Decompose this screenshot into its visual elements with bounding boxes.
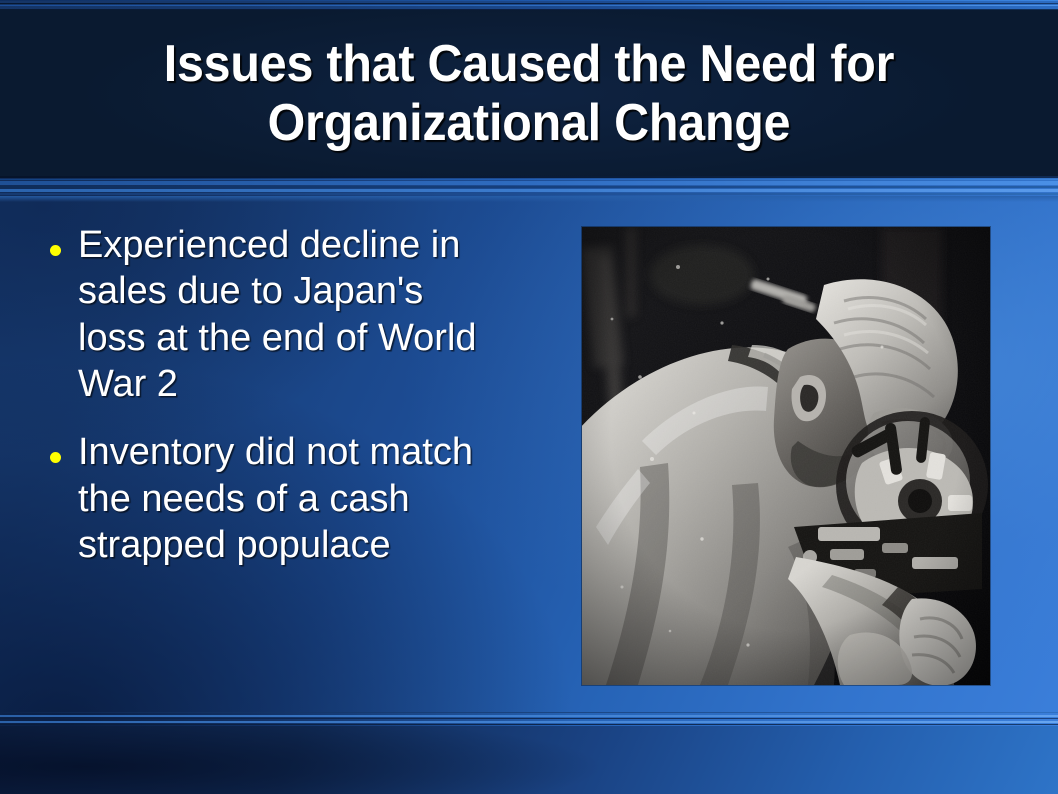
footer-rule-5 (0, 724, 1058, 725)
slide-content: Experienced decline in sales due to Japa… (0, 202, 1058, 712)
historical-worker-photo (582, 227, 990, 685)
footer-rule-group (0, 712, 1058, 730)
bottom-strip (0, 726, 1058, 794)
divider-rule-2 (0, 179, 1058, 180)
bullet-dot-icon (50, 452, 61, 463)
title-bar: Issues that Caused the Need for Organiza… (0, 10, 1058, 178)
divider-rule-3 (0, 181, 1058, 185)
top-rule-1 (0, 0, 1058, 1)
list-item: Inventory did not match the needs of a c… (50, 429, 550, 568)
footer-rule-3 (0, 718, 1058, 719)
divider-rule-4 (0, 186, 1058, 188)
footer-rule-1 (0, 712, 1058, 713)
page-title: Issues that Caused the Need for Organiza… (37, 35, 1021, 153)
footer-rule-2 (0, 715, 1058, 717)
divider-rule-6 (0, 193, 1058, 195)
title-divider-band (0, 176, 1058, 202)
footer-rule-4 (0, 721, 1058, 723)
divider-rule-5 (0, 189, 1058, 192)
photo-artwork (582, 227, 990, 685)
top-rule-2 (0, 3, 1058, 4)
bullet-text: Inventory did not match the needs of a c… (78, 429, 478, 568)
top-rule-3 (0, 5, 1058, 6)
bullet-text: Experienced decline in sales due to Japa… (78, 222, 478, 407)
bullet-dot-icon (50, 245, 61, 256)
list-item: Experienced decline in sales due to Japa… (50, 222, 550, 407)
bullet-list: Experienced decline in sales due to Japa… (50, 222, 550, 591)
slide: Issues that Caused the Need for Organiza… (0, 0, 1058, 794)
